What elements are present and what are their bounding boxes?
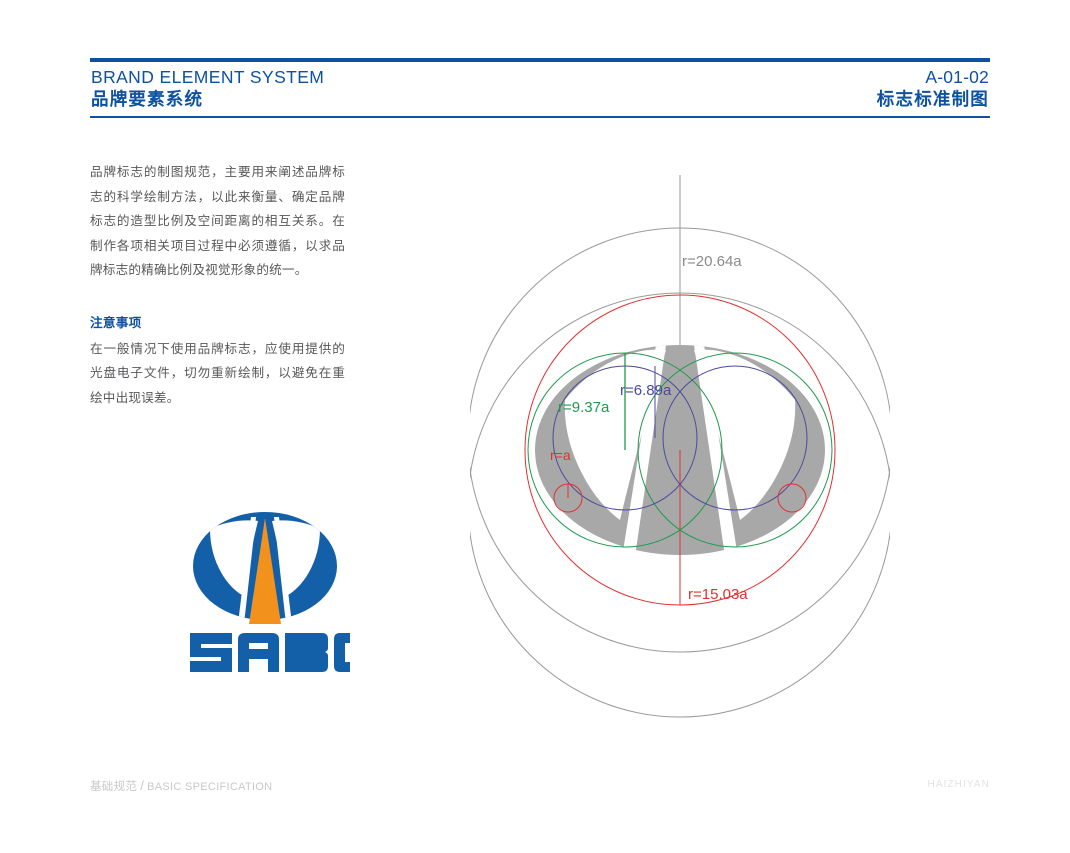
guideline-page: BRAND ELEMENT SYSTEM 品牌要素系统 A-01-02 标志标准… [0, 0, 1070, 853]
construction-diagram: r=20.64a r=9.37a r=6.89a r=a r=15.03a [470, 150, 890, 750]
copy-column: 品牌标志的制图规范，主要用来阐述品牌标志的科学绘制方法，以此来衡量、确定品牌标志… [90, 160, 345, 410]
footer-brand: HAIZHIYAN [928, 779, 991, 790]
header-page-code: A-01-02 [877, 67, 989, 88]
logo-svg [180, 505, 350, 680]
header-rule-top [90, 58, 990, 62]
header-page-code-group: A-01-02 标志标准制图 [877, 67, 989, 111]
header-title-en: BRAND ELEMENT SYSTEM [91, 67, 324, 88]
footer-section-cn: 基础规范 [90, 781, 137, 793]
label-ra: r=a [550, 447, 571, 463]
notes-heading: 注意事项 [90, 312, 345, 331]
footer-slash: / [137, 778, 147, 793]
header-title-cn: 品牌要素系统 [91, 88, 324, 111]
label-r2064: r=20.64a [682, 253, 742, 270]
page-footer: 基础规范/BASIC SPECIFICATION HAIZHIYAN [90, 778, 990, 798]
logo-wordmark [190, 633, 350, 672]
label-r689: r=6.89a [620, 382, 672, 399]
footer-left: 基础规范/BASIC SPECIFICATION [90, 778, 272, 794]
header-title-group: BRAND ELEMENT SYSTEM 品牌要素系统 [91, 67, 324, 111]
notes-paragraph: 在一般情况下使用品牌标志，应使用提供的光盘电子文件，切勿重新绘制，以避免在重绘中… [90, 337, 345, 411]
intro-paragraph: 品牌标志的制图规范，主要用来阐述品牌标志的科学绘制方法，以此来衡量、确定品牌标志… [90, 160, 345, 283]
logo-mark [193, 512, 337, 624]
footer-section-en: BASIC SPECIFICATION [147, 781, 272, 793]
header-page-subtitle-cn: 标志标准制图 [877, 88, 989, 111]
header-rule-bottom [90, 116, 990, 118]
page-header: BRAND ELEMENT SYSTEM 品牌要素系统 A-01-02 标志标准… [90, 58, 990, 120]
brand-logo [180, 505, 350, 680]
label-r1503: r=15.03a [688, 586, 748, 603]
label-r937: r=9.37a [558, 399, 610, 416]
diagram-svg: r=20.64a r=9.37a r=6.89a r=a r=15.03a [470, 150, 890, 750]
